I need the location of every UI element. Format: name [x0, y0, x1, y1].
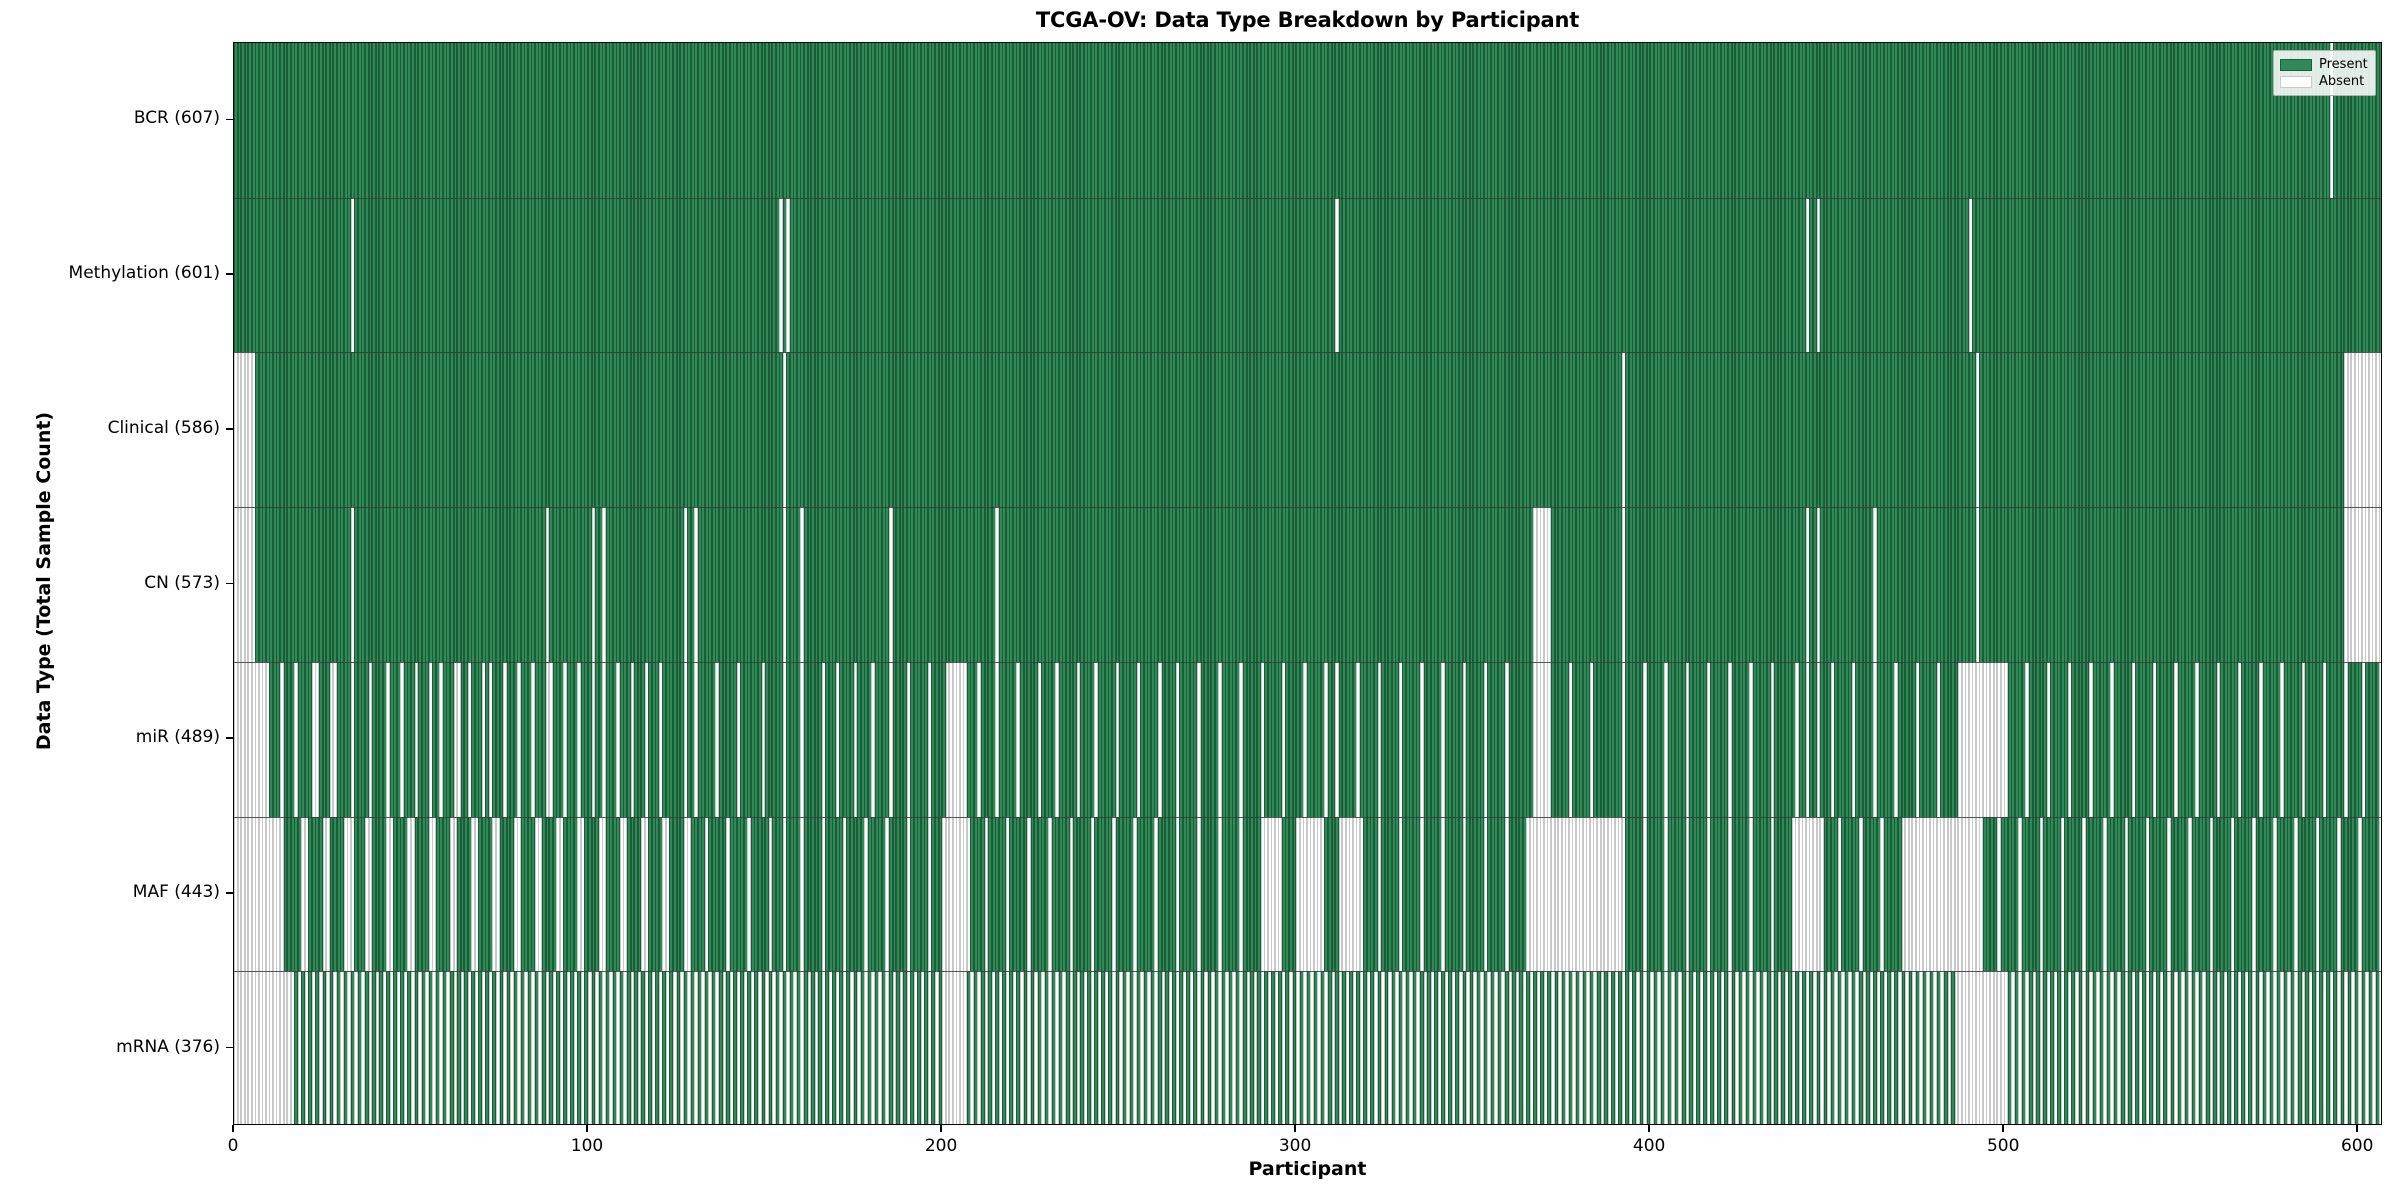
x-tick-mark [2002, 1125, 2004, 1132]
bar-strip [234, 507, 2381, 662]
cell-absent [2379, 662, 2381, 817]
row-separator [234, 662, 2381, 663]
x-tick-mark [1648, 1125, 1650, 1132]
y-tick-mark [226, 892, 233, 894]
x-axis-label: Participant [233, 1158, 2382, 1180]
heatmap-row-clinical [234, 352, 2381, 507]
cell-absent [2379, 507, 2381, 662]
figure-canvas: TCGA-OV: Data Type Breakdown by Particip… [0, 0, 2400, 1200]
bar-strip [234, 817, 2381, 972]
heatmap-row-methylation [234, 198, 2381, 353]
chart-title: TCGA-OV: Data Type Breakdown by Particip… [233, 8, 2382, 32]
heatmap-row-mir [234, 662, 2381, 817]
y-tick-label-mir: miR (489) [0, 727, 220, 747]
bar-strip [234, 971, 2381, 1125]
bar-strip [234, 43, 2381, 198]
row-separator [234, 971, 2381, 972]
x-tick-label: 0 [193, 1136, 273, 1156]
bar-strip [234, 662, 2381, 817]
y-tick-mark [226, 583, 233, 585]
cell-present [2379, 198, 2381, 353]
legend-label-absent: Absent [2319, 74, 2364, 89]
y-tick-label-clinical: Clinical (586) [0, 418, 220, 438]
y-tick-label-mrna: mRNA (376) [0, 1037, 220, 1057]
legend-swatch-absent-icon [2280, 76, 2312, 88]
x-tick-label: 500 [1963, 1136, 2043, 1156]
cell-absent [2379, 971, 2381, 1125]
x-tick-label: 300 [1255, 1136, 1335, 1156]
row-separator [234, 817, 2381, 818]
x-tick-mark [2356, 1125, 2358, 1132]
y-tick-mark [226, 737, 233, 739]
y-tick-mark [226, 273, 233, 275]
heatmap-row-cn [234, 507, 2381, 662]
legend-entry-present: Present [2280, 56, 2368, 73]
plot-area [233, 42, 2382, 1125]
legend-label-present: Present [2319, 57, 2368, 72]
legend-swatch-present-icon [2280, 59, 2312, 71]
cell-absent [2379, 817, 2381, 972]
y-tick-mark [226, 1047, 233, 1049]
y-tick-label-methylation: Methylation (601) [0, 263, 220, 283]
row-separator [234, 507, 2381, 508]
heatmap-row-mrna [234, 971, 2381, 1125]
y-tick-label-cn: CN (573) [0, 573, 220, 593]
x-tick-label: 400 [1609, 1136, 1689, 1156]
y-tick-mark [226, 119, 233, 121]
bar-strip [234, 198, 2381, 353]
x-tick-mark [232, 1125, 234, 1132]
x-tick-label: 100 [547, 1136, 627, 1156]
bar-strip [234, 352, 2381, 507]
x-tick-label: 600 [2317, 1136, 2397, 1156]
heatmap-row-maf [234, 817, 2381, 972]
cell-absent [2379, 352, 2381, 507]
legend: Present Absent [2273, 50, 2376, 96]
x-tick-mark [940, 1125, 942, 1132]
heatmap-row-bcr [234, 43, 2381, 198]
cell-present [2379, 43, 2381, 198]
row-separator [234, 198, 2381, 199]
y-tick-label-bcr: BCR (607) [0, 108, 220, 128]
x-tick-mark [1294, 1125, 1296, 1132]
x-tick-label: 200 [901, 1136, 981, 1156]
y-tick-label-maf: MAF (443) [0, 882, 220, 902]
x-tick-mark [586, 1125, 588, 1132]
legend-entry-absent: Absent [2280, 73, 2368, 90]
y-tick-mark [226, 428, 233, 430]
row-separator [234, 352, 2381, 353]
